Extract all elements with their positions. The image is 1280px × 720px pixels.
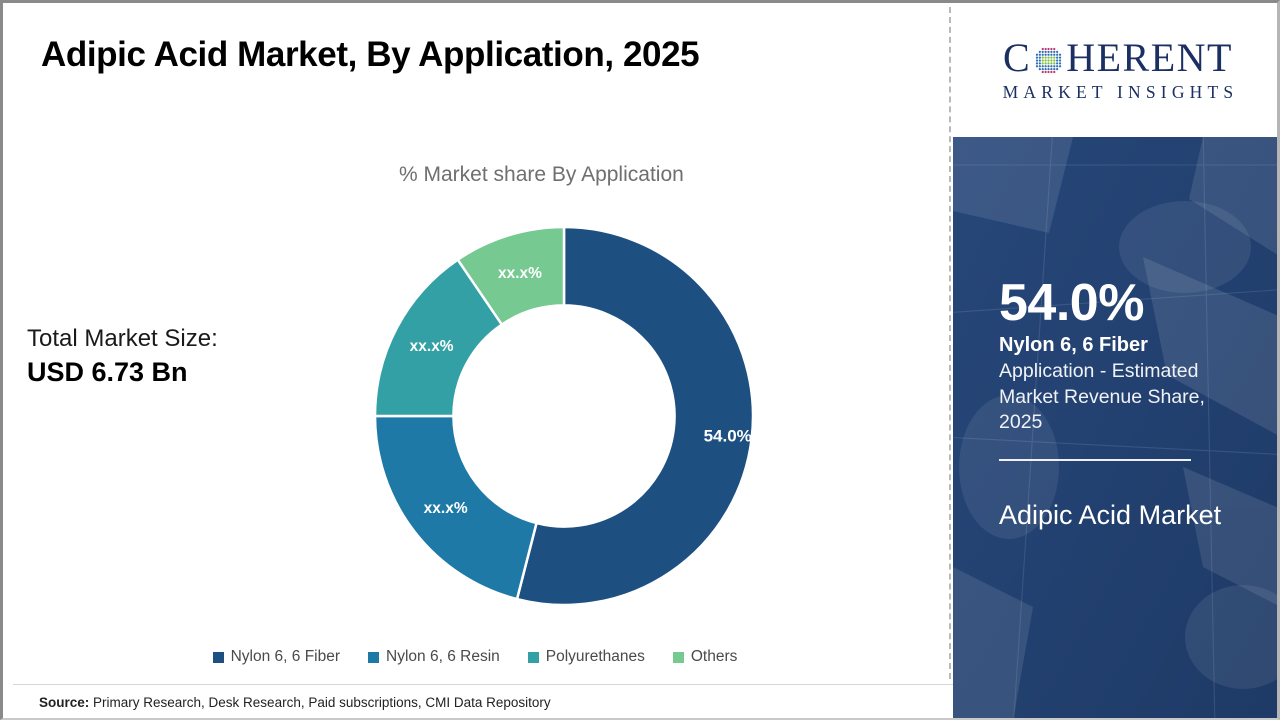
source-line: Source: Primary Research, Desk Research,… [39, 695, 551, 710]
donut-slice-label: xx.x% [424, 500, 468, 517]
sidebar-divider [999, 459, 1191, 461]
chart-subtitle: % Market share By Application [399, 163, 684, 187]
globe-dots-icon [1032, 44, 1065, 77]
legend-label: Polyurethanes [546, 648, 645, 666]
sidebar-segment-name: Nylon 6, 6 Fiber [999, 333, 1148, 357]
donut-slice-label: xx.x% [498, 265, 542, 282]
legend-label: Others [691, 648, 738, 666]
sidebar-market-name: Adipic Acid Market [999, 497, 1229, 534]
total-market-size-value: USD 6.73 Bn [27, 356, 327, 388]
logo-tagline: MARKET INSIGHTS [973, 82, 1263, 103]
infographic-page: Adipic Acid Market, By Application, 2025… [0, 0, 1280, 720]
donut-slice-label: xx.x% [410, 338, 454, 355]
page-title: Adipic Acid Market, By Application, 2025 [41, 35, 699, 75]
sidebar-content: 54.0% Nylon 6, 6 Fiber Application - Est… [999, 137, 1249, 720]
legend-label: Nylon 6, 6 Resin [386, 648, 500, 666]
donut-chart: 54.0%xx.x%xx.x%xx.x% [373, 225, 755, 607]
highlight-sidebar: 54.0% Nylon 6, 6 Fiber Application - Est… [953, 137, 1280, 720]
logo-word-herent: HERENT [1066, 38, 1233, 78]
coherent-market-insights-logo: C HERENT MARKET INSIGHTS [973, 38, 1263, 103]
legend-swatch-icon [213, 652, 224, 663]
globe-dots-svg [1032, 44, 1065, 77]
main-content-area: Adipic Acid Market, By Application, 2025… [3, 3, 947, 717]
legend-label: Nylon 6, 6 Fiber [231, 648, 340, 666]
logo-wordmark: C HERENT [973, 38, 1263, 78]
sidebar-description: Application - Estimated Market Revenue S… [999, 359, 1235, 436]
legend-item[interactable]: Nylon 6, 6 Fiber [213, 648, 340, 666]
logo-panel: C HERENT MARKET INSIGHTS [955, 5, 1280, 136]
donut-chart-svg: 54.0%xx.x%xx.x%xx.x% [373, 225, 755, 607]
chart-legend: Nylon 6, 6 FiberNylon 6, 6 ResinPolyuret… [3, 648, 947, 666]
source-label: Source: [39, 695, 89, 710]
donut-slice-label: 54.0% [704, 427, 752, 446]
legend-swatch-icon [528, 652, 539, 663]
legend-swatch-icon [368, 652, 379, 663]
legend-swatch-icon [673, 652, 684, 663]
legend-item[interactable]: Nylon 6, 6 Resin [368, 648, 500, 666]
donut-slices [375, 227, 753, 605]
total-market-size-block: Total Market Size: USD 6.73 Bn [27, 325, 327, 389]
legend-item[interactable]: Polyurethanes [528, 648, 645, 666]
logo-letter-c: C [1003, 38, 1031, 78]
vertical-dashed-divider [949, 7, 951, 679]
sidebar-percent-value: 54.0% [999, 277, 1144, 329]
legend-item[interactable]: Others [673, 648, 738, 666]
total-market-size-label: Total Market Size: [27, 325, 327, 353]
source-text: Primary Research, Desk Research, Paid su… [89, 695, 550, 710]
